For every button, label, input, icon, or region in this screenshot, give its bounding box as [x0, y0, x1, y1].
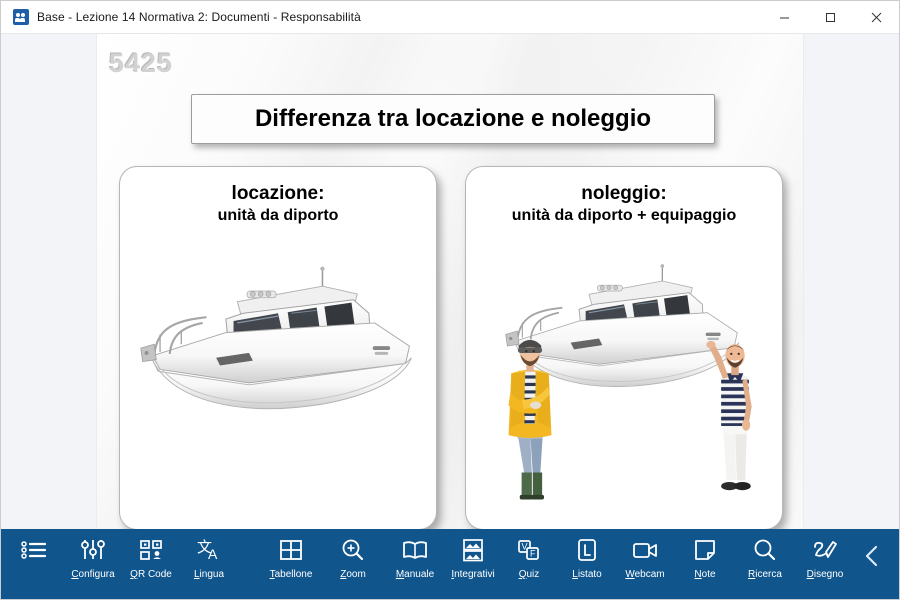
toolbar-item-configura[interactable]: Configura	[69, 535, 117, 580]
nav-previous-button[interactable]	[849, 541, 895, 575]
webcam-icon	[631, 535, 659, 565]
toolbar-item-disegno[interactable]: Disegno	[801, 535, 849, 580]
quiz-cards-icon: V F	[516, 535, 542, 565]
card-header: noleggio: unità da diporto + equipaggio	[466, 167, 782, 226]
toolbar-label: Listato	[572, 569, 601, 580]
sliders-icon	[80, 535, 106, 565]
card-noleggio[interactable]: noleggio: unità da diporto + equipaggio	[465, 166, 783, 529]
toolbar-item-lingua[interactable]: 文 A Lingua	[185, 535, 233, 580]
card-locazione[interactable]: locazione: unità da diporto	[119, 166, 437, 529]
toolbar-item-webcam[interactable]: Webcam	[621, 535, 669, 580]
toolbar-item-manuale[interactable]: Manuale	[391, 535, 439, 580]
sailor-saluting	[698, 327, 772, 517]
card-title: locazione:	[120, 183, 436, 205]
slide-number: 5425	[109, 48, 173, 79]
close-icon[interactable]	[853, 1, 899, 33]
toolbar-label: QR Code	[130, 569, 172, 580]
chevron-left-icon	[859, 541, 885, 571]
card-header: locazione: unità da diporto	[120, 167, 436, 226]
toolbar-label: Manuale	[396, 569, 434, 580]
card-title: noleggio:	[466, 183, 782, 205]
toolbar-label: Configura	[71, 569, 114, 580]
slide-title-banner: Differenza tra locazione e noleggio	[191, 94, 715, 144]
toolbar-label: Note	[694, 569, 715, 580]
bottom-toolbar: Configura QR Code 文 A	[1, 529, 899, 599]
card-artwork	[120, 243, 436, 529]
toolbar-item-quiz[interactable]: V F Quiz	[505, 535, 553, 580]
images-stack-icon	[460, 535, 486, 565]
toolbar-item-zoom[interactable]: Zoom	[329, 535, 377, 580]
app-window: Base - Lezione 14 Normativa 2: Documenti…	[0, 0, 900, 600]
toolbar-item-listato[interactable]: Listato	[563, 535, 611, 580]
toolbar-item-list[interactable]	[13, 535, 55, 569]
card-artwork	[466, 243, 782, 529]
toolbar-item-ricerca[interactable]: Ricerca	[741, 535, 789, 580]
title-bar[interactable]: Base - Lezione 14 Normativa 2: Documenti…	[1, 1, 899, 34]
man-in-yellow-raincoat	[488, 325, 572, 517]
note-icon	[692, 535, 718, 565]
book-icon	[401, 535, 429, 565]
svg-text:F: F	[530, 549, 536, 559]
toolbar-label: Quiz	[519, 569, 540, 580]
bulleted-list-icon	[21, 535, 47, 565]
people-icon	[13, 9, 29, 25]
card-subtitle: unità da diporto	[120, 207, 436, 226]
toolbar-item-tabellone[interactable]: Tabellone	[267, 535, 315, 580]
window-controls	[761, 1, 899, 33]
toolbar-item-note[interactable]: Note	[681, 535, 729, 580]
zoom-in-icon	[340, 535, 366, 565]
maximize-icon[interactable]	[807, 1, 853, 33]
slide-title-text: Differenza tra locazione e noleggio	[255, 105, 651, 133]
translate-icon: 文 A	[195, 535, 223, 565]
window-title: Base - Lezione 14 Normativa 2: Documenti…	[37, 10, 361, 24]
slide-viewer: 5425 Differenza tra locazione e noleggio…	[1, 34, 899, 529]
pen-drawing-icon	[811, 535, 839, 565]
toolbar-label: Webcam	[625, 569, 664, 580]
minimize-icon[interactable]	[761, 1, 807, 33]
toolbar-label: Zoom	[340, 569, 366, 580]
nav-up-down-button[interactable]	[895, 541, 900, 575]
toolbar-label: Lingua	[194, 569, 224, 580]
toolbar-item-integrativi[interactable]: Integrativi	[449, 535, 497, 580]
card-subtitle: unità da diporto + equipaggio	[466, 207, 782, 226]
toolbar-label: Ricerca	[748, 569, 782, 580]
letter-l-box-icon	[574, 535, 600, 565]
toolbar-item-qr-code[interactable]: QR Code	[127, 535, 175, 580]
qr-code-icon	[138, 535, 164, 565]
svg-text:A: A	[208, 546, 218, 562]
motorboat-image	[133, 263, 423, 432]
slide-canvas[interactable]: 5425 Differenza tra locazione e noleggio…	[97, 34, 803, 529]
toolbar-label: Tabellone	[270, 569, 313, 580]
toolbar-label: Integrativi	[451, 569, 494, 580]
search-icon	[752, 535, 778, 565]
comparison-cards: locazione: unità da diporto	[119, 166, 783, 529]
grid-table-icon	[278, 535, 304, 565]
toolbar-label: Disegno	[807, 569, 844, 580]
